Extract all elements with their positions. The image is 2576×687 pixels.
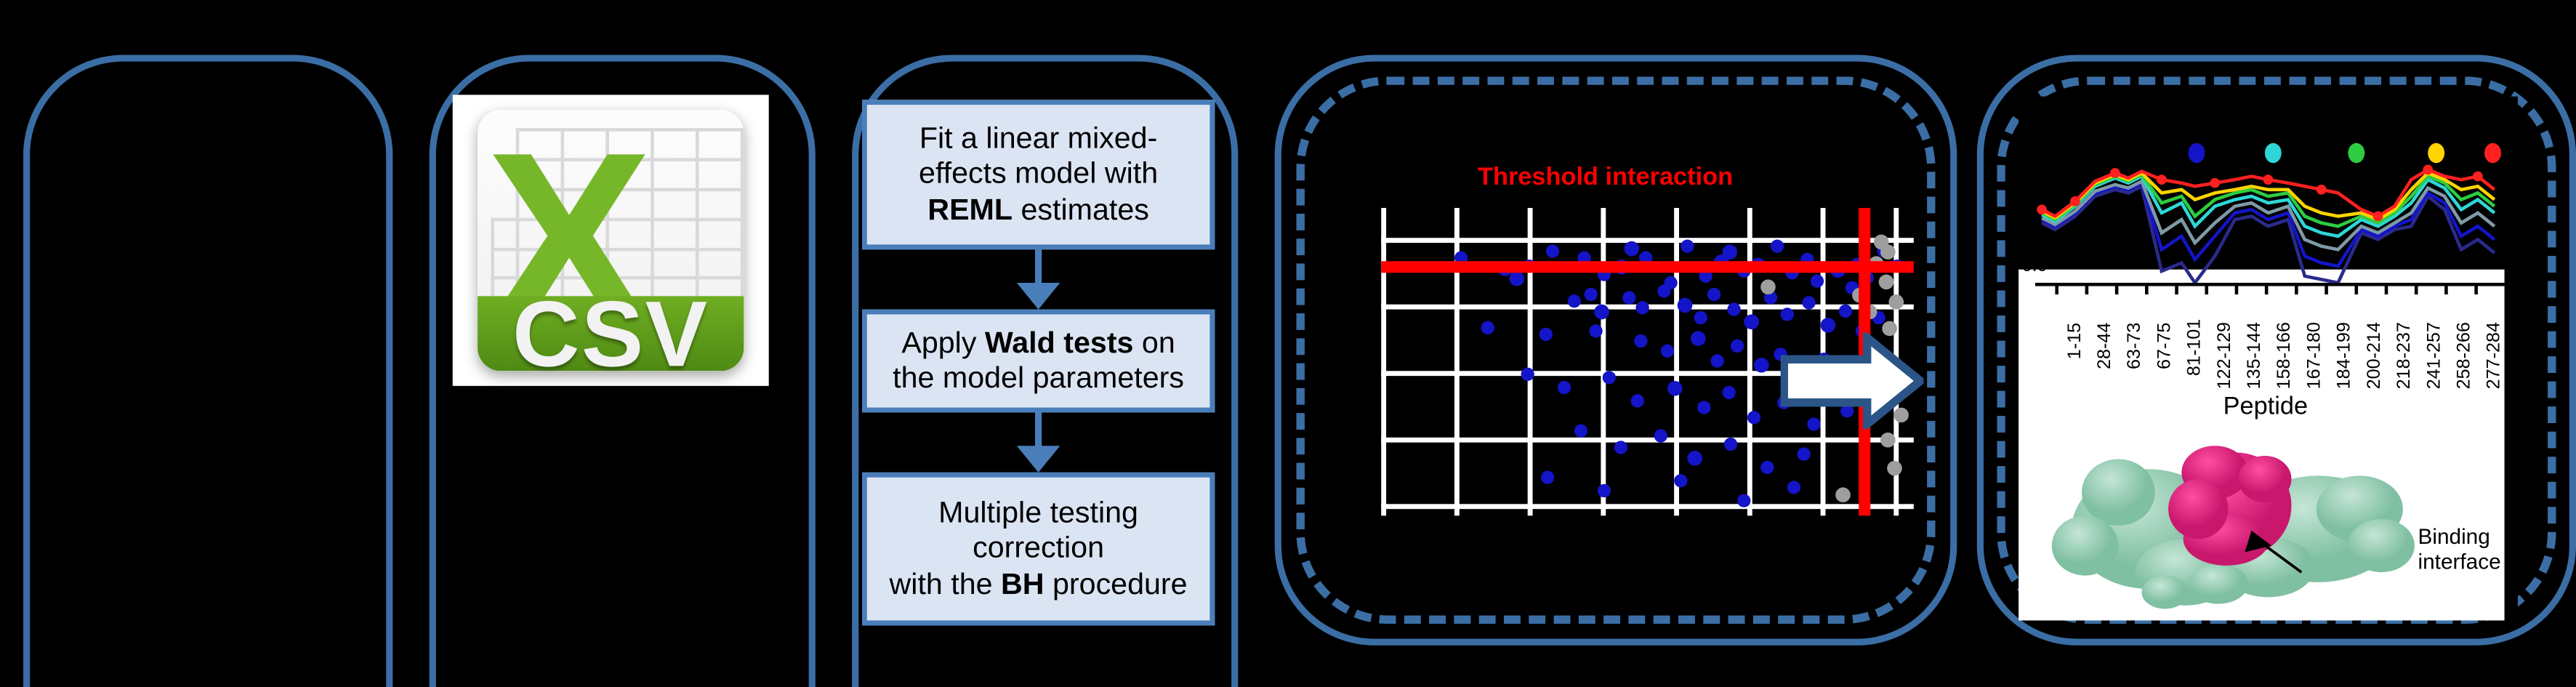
excel-x-letter: X — [486, 115, 581, 230]
scatter-point — [1594, 305, 1609, 320]
scatter-point — [1798, 448, 1811, 461]
peptide-tick-label: 63-73 — [2125, 323, 2145, 369]
scatter-point — [1558, 381, 1571, 394]
scatter-point — [1821, 318, 1836, 333]
scatter-point — [1723, 386, 1736, 399]
step-wald-tests-box[interactable]: Apply Wald tests on the model parameters — [862, 310, 1215, 413]
scatter-point — [1760, 461, 1774, 474]
peptide-tick-label: 81-101 — [2185, 319, 2205, 376]
scatter-point-ns — [1880, 433, 1896, 448]
x-axis-title: Peptide — [2223, 393, 2308, 421]
scatter-point — [1811, 275, 1824, 288]
step-multiple-testing-box[interactable]: Multiple testing correction with the BH … — [862, 473, 1215, 626]
scatter-point — [1541, 471, 1554, 484]
csv-file-icon: X CSV — [453, 95, 769, 385]
scatter-point — [1697, 401, 1710, 414]
scatter-point — [1598, 484, 1611, 497]
scatter-point — [1691, 331, 1706, 346]
legend-dot-blue — [2189, 143, 2205, 163]
scatter-point — [1787, 481, 1800, 494]
scatter-point — [1546, 244, 1559, 257]
scatter-point — [1694, 311, 1707, 324]
peptide-tick-label: 258-266 — [2455, 322, 2474, 389]
step-multiple-testing-text: Multiple testing correction with the BH … — [890, 496, 1188, 602]
scatter-point — [1747, 411, 1760, 424]
scatter-point — [1711, 354, 1724, 367]
scatter-point — [1839, 305, 1852, 318]
peptide-tick-label: 1-15 — [2065, 323, 2085, 359]
scatter-point — [1781, 308, 1794, 321]
scatter-point — [1589, 324, 1602, 337]
scatter-point — [1744, 314, 1759, 329]
threshold-interaction-line — [1381, 261, 1914, 273]
csv-label-band: CSV — [478, 295, 743, 371]
legend-dot-yellow — [2428, 143, 2444, 163]
scatter-point-ns — [1760, 279, 1776, 294]
scatter-point — [1661, 345, 1674, 358]
scatter-point — [1802, 296, 1815, 309]
peptide-line-chart — [2018, 97, 2518, 288]
scatter-point — [1724, 438, 1737, 451]
scatter-point — [1574, 424, 1587, 437]
peptide-tick-label: 200-214 — [2364, 322, 2384, 389]
scatter-point — [1727, 302, 1740, 316]
scatter-point — [1481, 321, 1494, 334]
scatter-point — [1603, 371, 1616, 384]
arrow-to-first-step — [1781, 333, 1924, 430]
step-fit-model-box[interactable]: Fit a linear mixed- effects model with R… — [862, 100, 1215, 249]
scatter-point-ns — [1887, 461, 1902, 476]
peptide-tick-label: 241-257 — [2425, 322, 2444, 389]
peptide-tick-label: 67-75 — [2155, 323, 2175, 369]
csv-label: CSV — [512, 279, 709, 371]
scatter-point — [1687, 451, 1702, 466]
x-axis-line — [2035, 283, 2505, 286]
legend-dot-green — [2348, 143, 2364, 163]
scatter-point — [1631, 394, 1644, 407]
annotation-line-1: Binding — [2418, 526, 2501, 550]
scatter-point — [1737, 494, 1750, 507]
connector-arrow-2 — [1017, 446, 1060, 473]
scatter-point — [1634, 334, 1647, 347]
step-fit-model-text: Fit a linear mixed- effects model with R… — [919, 121, 1158, 228]
scatter-point — [1657, 284, 1670, 297]
scatter-point — [1731, 340, 1744, 353]
step-wald-tests-text: Apply Wald tests on the model parameters — [893, 326, 1184, 396]
scatter-point-ns — [1879, 275, 1894, 290]
scatter-point — [1568, 294, 1581, 308]
scatter-point-ns — [1888, 294, 1904, 310]
scatter-point — [1624, 241, 1639, 257]
scatter-point — [1509, 271, 1524, 286]
scatter-point — [1654, 429, 1667, 442]
peptide-tick-label: 277-284 — [2484, 322, 2504, 389]
scatter-title: Threshold interaction — [1478, 163, 1733, 191]
scatter-point — [1667, 381, 1683, 396]
scatter-point — [1754, 358, 1769, 373]
peptide-tick-label: 218-237 — [2394, 322, 2414, 389]
peptide-tick-label: 122-129 — [2215, 322, 2234, 389]
peptide-tick-label: 135-144 — [2245, 322, 2264, 389]
scatter-point — [1674, 474, 1687, 487]
scatter-point — [1723, 244, 1738, 260]
scatter-point — [1539, 328, 1553, 341]
peptide-tick-label: 184-199 — [2335, 322, 2354, 389]
scatter-point — [1622, 291, 1635, 304]
protein-structure-image — [2018, 426, 2505, 617]
panel-data-source — [23, 55, 393, 687]
scatter-point — [1585, 288, 1598, 301]
connector-arrow-1 — [1017, 283, 1060, 310]
scatter-point — [1707, 288, 1720, 301]
scatter-point-ns — [1835, 487, 1851, 502]
y-axis-label: 0.0 — [2022, 256, 2048, 276]
peptide-tick-label: 28-44 — [2095, 323, 2114, 369]
csv-card: X CSV — [478, 109, 743, 371]
scatter-point — [1681, 239, 1694, 252]
legend-dot-cyan — [2265, 143, 2282, 163]
binding-interface-annotation: Binding interface — [2418, 526, 2501, 575]
annotation-line-2: interface — [2418, 550, 2501, 575]
legend-dot-red — [2484, 143, 2501, 163]
scatter-point-ns — [1880, 244, 1896, 260]
scatter-point — [1678, 298, 1693, 313]
peptide-tick-label: 167-180 — [2305, 322, 2325, 389]
scatter-point — [1771, 239, 1784, 252]
structure-figure: 0.0 1-15 28-44 63-73 67-75 81-101 122-12… — [2018, 97, 2518, 621]
scatter-point — [1521, 368, 1534, 381]
peptide-tick-label: 158-166 — [2275, 322, 2295, 389]
scatter-point — [1614, 441, 1627, 454]
scatter-point — [1635, 301, 1649, 314]
